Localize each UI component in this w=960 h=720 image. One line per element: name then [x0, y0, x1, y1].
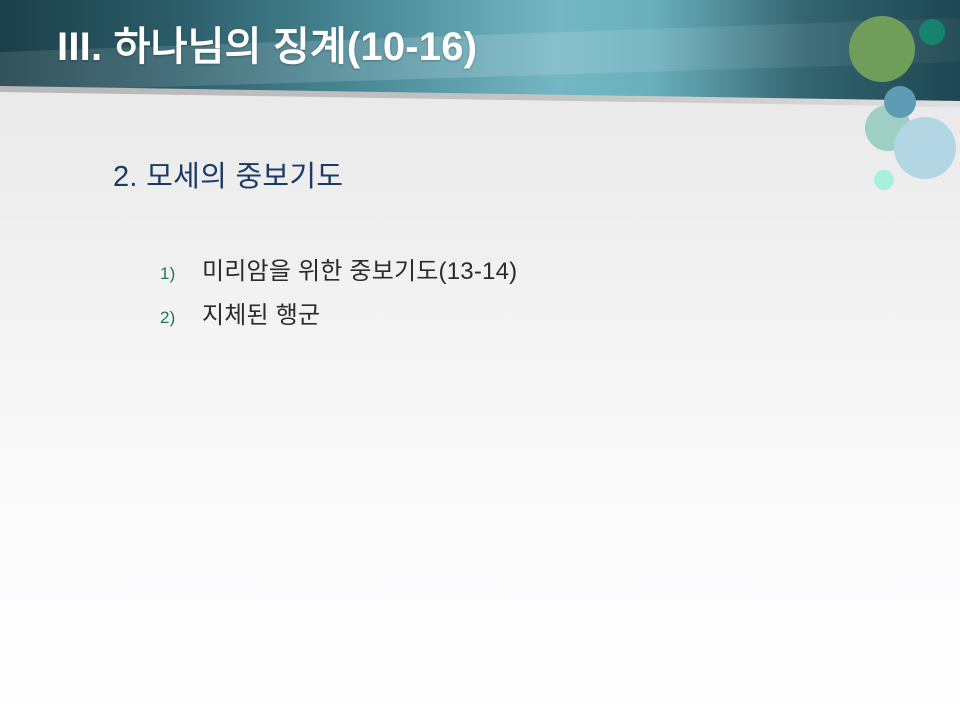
bullet-list: 1) 미리암을 위한 중보기도(13-14) 2) 지체된 행군	[160, 251, 517, 339]
decor-circle-aqua-tiny	[874, 170, 894, 190]
bullet-marker: 2)	[160, 308, 202, 328]
bullet-text: 미리암을 위한 중보기도(13-14)	[202, 251, 517, 286]
bullet-text: 지체된 행군	[202, 295, 320, 330]
slide-title: III. 하나님의 징계(10-16)	[57, 24, 837, 71]
list-item: 2) 지체된 행군	[160, 295, 517, 330]
list-item: 1) 미리암을 위한 중보기도(13-14)	[160, 251, 517, 286]
bullet-marker: 1)	[160, 264, 202, 284]
decor-circle-lightblue-big	[894, 117, 956, 179]
presentation-slide: III. 하나님의 징계(10-16) 2. 모세의 중보기도 1) 미리암을 …	[0, 0, 960, 720]
slide-subtitle: 2. 모세의 중보기도	[113, 153, 343, 195]
